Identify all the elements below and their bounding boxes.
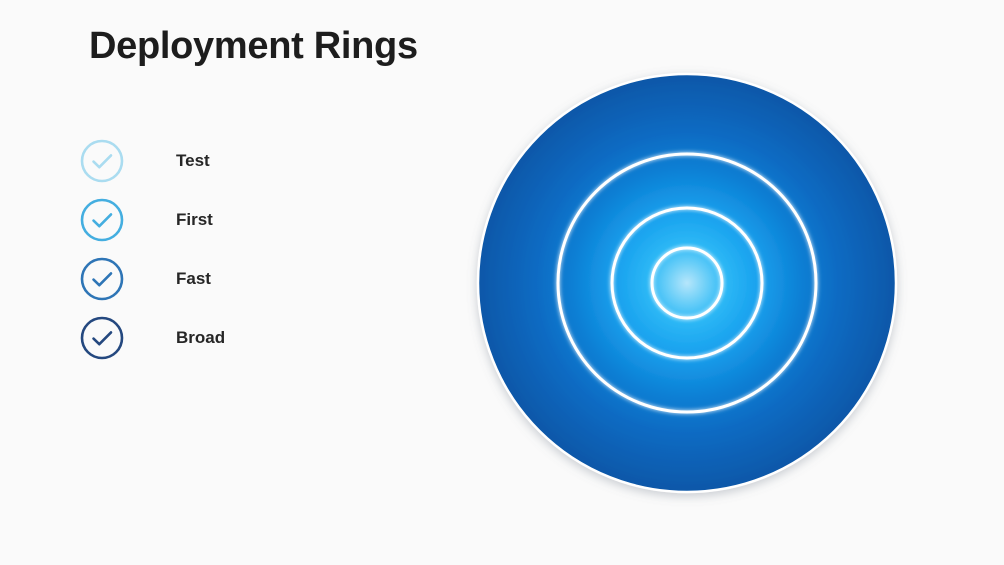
check-circle-icon [79,197,125,243]
list-item[interactable]: Fast [79,249,379,308]
legend-item-label: First [176,211,213,228]
list-item[interactable]: First [79,190,379,249]
list-item[interactable]: Broad [79,308,379,367]
legend-item-label: Fast [176,270,211,287]
legend-item-label: Test [176,152,210,169]
legend-list: Test First Fast Broad [79,131,379,367]
slide-canvas: Deployment Rings Test First Fast [0,0,1004,565]
check-circle-icon [79,138,125,184]
legend-item-label: Broad [176,329,225,346]
list-item[interactable]: Test [79,131,379,190]
check-circle-icon [79,256,125,302]
ring-broad [478,74,896,492]
deployment-rings-diagram [455,48,925,518]
page-title: Deployment Rings [89,22,418,70]
check-circle-icon [79,315,125,361]
rings-svg [455,48,925,518]
